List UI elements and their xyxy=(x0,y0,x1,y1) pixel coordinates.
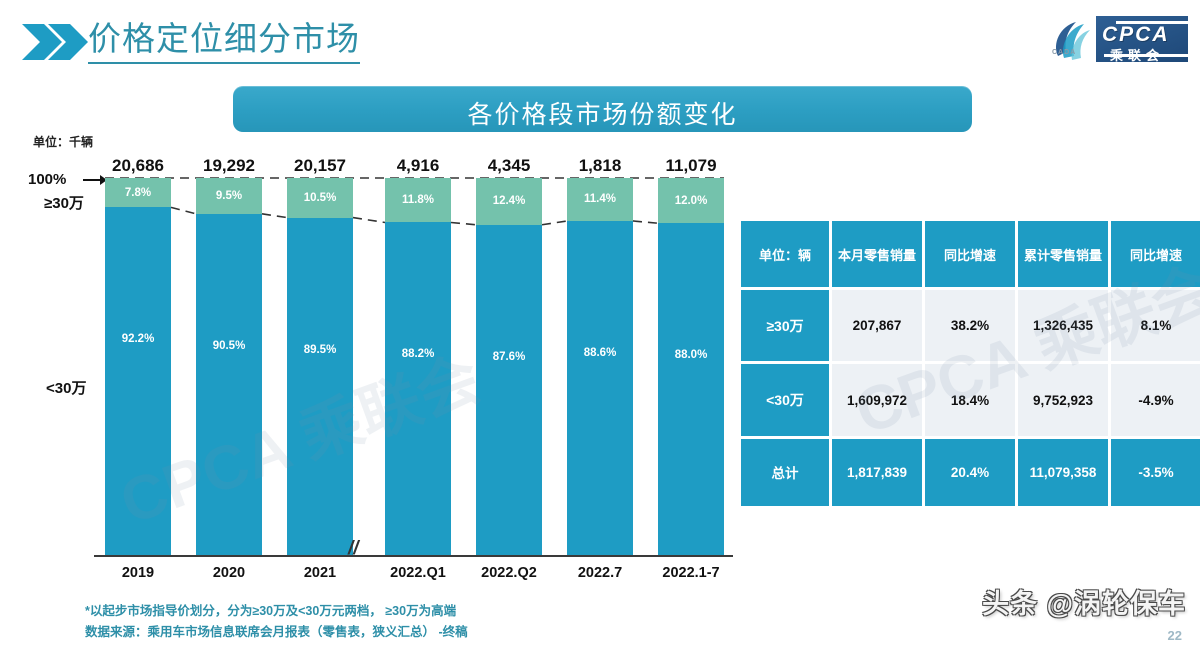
table-cell: 11,079,358 xyxy=(1018,439,1108,506)
table-row: ≥30万207,86738.2%1,326,4358.1% xyxy=(741,290,1200,361)
bar-segment-low-label: 92.2% xyxy=(122,333,155,345)
bar-segment-low-label: 89.5% xyxy=(304,344,337,356)
logo-cpca-text: CPCA xyxy=(1102,23,1170,47)
table-row: 总计1,817,83920.4%11,079,358-3.5% xyxy=(741,439,1200,506)
table-col-header: 累计零售销量 xyxy=(1018,221,1108,287)
table-header-row: 单位：辆本月零售销量同比增速累计零售销量同比增速 xyxy=(741,221,1200,287)
bar-segment-low-label: 88.0% xyxy=(675,349,708,361)
x-axis-label: 2019 xyxy=(91,565,185,581)
table-cell: 18.4% xyxy=(925,364,1015,435)
bar-group: 4,34512.4%87.6% xyxy=(476,178,542,555)
bar-segment-low-label: 88.2% xyxy=(402,348,435,360)
logo-cadr-text: CADA xyxy=(1052,49,1076,56)
cpca-logo: CADA CPCA 乘联会 xyxy=(1048,14,1188,66)
stacked-bar-chart: 单位：千辆 100% ≥30万 <30万 20,6867.8%92.2%19,2… xyxy=(0,130,740,590)
page-number: 22 xyxy=(1168,628,1182,643)
summary-table: 单位：辆本月零售销量同比增速累计零售销量同比增速 ≥30万207,86738.2… xyxy=(738,218,1200,509)
bar-segment-high: 10.5% xyxy=(287,178,353,218)
bar-segment-high: 9.5% xyxy=(196,178,262,214)
x-axis-label: 2022.7 xyxy=(553,565,647,581)
table-cell: 8.1% xyxy=(1111,290,1200,361)
footnote-line-2: 数据来源：乘用车市场信息联席会月报表（零售表，狭义汇总） -终稿 xyxy=(85,622,468,643)
bar-segment-high: 11.4% xyxy=(567,178,633,221)
chart-banner: 各价格段市场份额变化 xyxy=(233,86,972,132)
bar-group: 4,91611.8%88.2% xyxy=(385,178,451,555)
double-chevron-right-icon xyxy=(22,22,88,62)
table-cell: -4.9% xyxy=(1111,364,1200,435)
logo-chinese-text: 乘联会 xyxy=(1110,45,1164,62)
bar-segment-high-label: 11.8% xyxy=(402,194,434,206)
bar-segment-high-label: 7.8% xyxy=(125,187,151,199)
x-axis-label: 2020 xyxy=(182,565,276,581)
table-row-header: ≥30万 xyxy=(741,290,829,361)
bar-segment-low: 87.6% xyxy=(476,225,542,555)
bar-segment-low-label: 88.6% xyxy=(584,347,617,359)
bar-segment-low-label: 87.6% xyxy=(493,351,526,363)
bar-total-label: 11,079 xyxy=(665,156,716,176)
bar-total-label: 19,292 xyxy=(203,156,255,176)
banner-title: 各价格段市场份额变化 xyxy=(233,95,972,131)
footnote-line-1: *以起步市场指导价划分，分为≥30万及<30万元两档， ≥30万为高端 xyxy=(85,601,468,622)
bar-total-label: 4,345 xyxy=(488,156,531,176)
bar-total-label: 1,818 xyxy=(579,156,622,176)
table-col-header: 同比增速 xyxy=(1111,221,1200,287)
table-row-header: <30万 xyxy=(741,364,829,435)
bar-group: 19,2929.5%90.5% xyxy=(196,178,262,555)
table-cell: 1,609,972 xyxy=(832,364,922,435)
x-axis-label: 2021 xyxy=(273,565,367,581)
table-cell: 9,752,923 xyxy=(1018,364,1108,435)
table-cell: 1,326,435 xyxy=(1018,290,1108,361)
table-row: <30万1,609,97218.4%9,752,923-4.9% xyxy=(741,364,1200,435)
bar-segment-low: 90.5% xyxy=(196,214,262,555)
bar-group: 20,6867.8%92.2% xyxy=(105,178,171,555)
toutiao-watermark: 头条 @涡轮保车 xyxy=(982,582,1186,621)
x-axis-label: 2022.Q1 xyxy=(371,565,465,581)
slide-header: 价格定位细分市场 xyxy=(0,0,1200,78)
table-cell: 20.4% xyxy=(925,439,1015,506)
bar-segment-high-label: 9.5% xyxy=(216,190,242,202)
bar-segment-low: 88.2% xyxy=(385,222,451,555)
bar-segment-high-label: 10.5% xyxy=(304,192,337,204)
table-body: ≥30万207,86738.2%1,326,4358.1%<30万1,609,9… xyxy=(741,290,1200,506)
table-cell: 207,867 xyxy=(832,290,922,361)
bar-segment-low: 88.0% xyxy=(658,223,724,555)
page-title: 价格定位细分市场 xyxy=(88,18,360,64)
bar-segment-high: 11.8% xyxy=(385,178,451,222)
table-cell: 38.2% xyxy=(925,290,1015,361)
table-cell: 1,817,839 xyxy=(832,439,922,506)
bar-total-label: 20,157 xyxy=(294,156,346,176)
footnotes: *以起步市场指导价划分，分为≥30万及<30万元两档， ≥30万为高端 数据来源… xyxy=(85,601,468,643)
table-col-header: 本月零售销量 xyxy=(832,221,922,287)
bar-group: 11,07912.0%88.0% xyxy=(658,178,724,555)
table-col-header: 同比增速 xyxy=(925,221,1015,287)
bar-segment-high: 7.8% xyxy=(105,178,171,207)
table-cell: -3.5% xyxy=(1111,439,1200,506)
bar-segment-high-label: 11.4% xyxy=(584,193,616,205)
x-axis-label: 2022.Q2 xyxy=(462,565,556,581)
bar-segment-high-label: 12.4% xyxy=(493,195,526,207)
bar-segment-low: 89.5% xyxy=(287,218,353,555)
bar-segment-low: 92.2% xyxy=(105,207,171,555)
x-axis-label: 2022.1-7 xyxy=(644,565,738,581)
bar-total-label: 4,916 xyxy=(397,156,440,176)
bar-segment-high-label: 12.0% xyxy=(675,195,708,207)
bar-segment-high: 12.0% xyxy=(658,178,724,223)
bar-segment-low: 88.6% xyxy=(567,221,633,555)
bar-total-label: 20,686 xyxy=(112,156,164,176)
bar-group: 1,81811.4%88.6% xyxy=(567,178,633,555)
axis-break-marker: // xyxy=(348,538,359,560)
bar-group: 20,15710.5%89.5% xyxy=(287,178,353,555)
table-header: 单位：辆本月零售销量同比增速累计零售销量同比增速 xyxy=(741,221,1200,287)
x-axis-line xyxy=(94,555,733,557)
bar-segment-low-label: 90.5% xyxy=(213,340,246,352)
bar-segment-high: 12.4% xyxy=(476,178,542,225)
table-col-header: 单位：辆 xyxy=(741,221,829,287)
logo-wordmark-block: CPCA 乘联会 xyxy=(1096,16,1188,62)
table-row-header: 总计 xyxy=(741,439,829,506)
